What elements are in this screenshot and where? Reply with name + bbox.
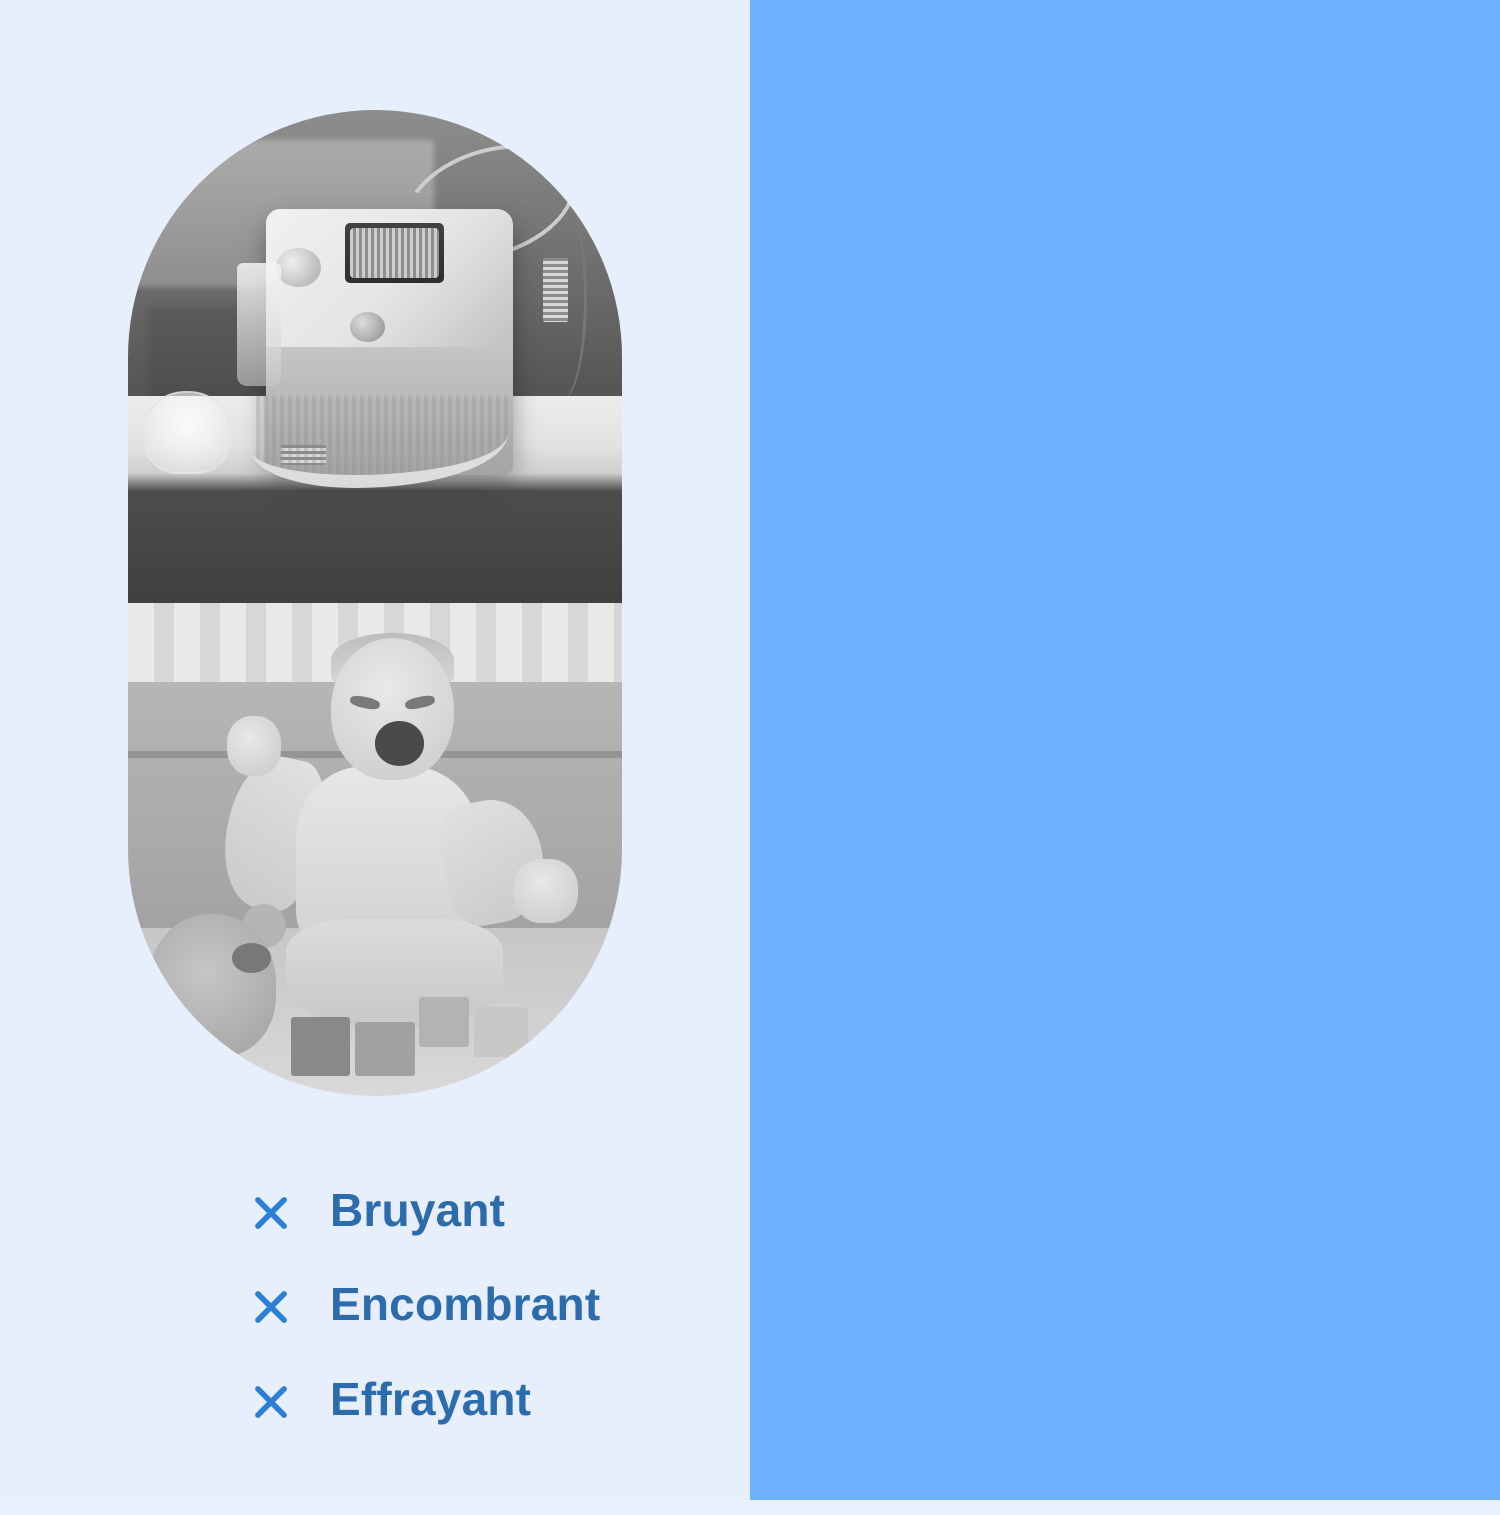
feature-label: Effrayant	[330, 1375, 531, 1423]
drawbacks-media-card	[128, 110, 622, 1096]
crying-baby-photo	[128, 603, 622, 1096]
compressor-nebulizer-photo	[128, 110, 622, 603]
cross-icon	[250, 1381, 292, 1423]
comparison-infographic: Bruyant Encombrant Eff	[0, 0, 1500, 1500]
cross-icon	[250, 1192, 292, 1234]
feature-label: Encombrant	[330, 1280, 600, 1328]
feature-label: Bruyant	[330, 1186, 505, 1234]
benefits-panel: Silencieux Portable Bébé s’endort	[750, 0, 1500, 1500]
feature-row-bruyant: Bruyant	[250, 1186, 720, 1234]
feature-row-encombrant: Encombrant	[250, 1280, 720, 1328]
feature-row-effrayant: Effrayant	[250, 1375, 720, 1423]
drawbacks-panel: Bruyant Encombrant Eff	[0, 0, 750, 1500]
cross-icon	[250, 1286, 292, 1328]
drawbacks-feature-list: Bruyant Encombrant Eff	[250, 1186, 720, 1469]
